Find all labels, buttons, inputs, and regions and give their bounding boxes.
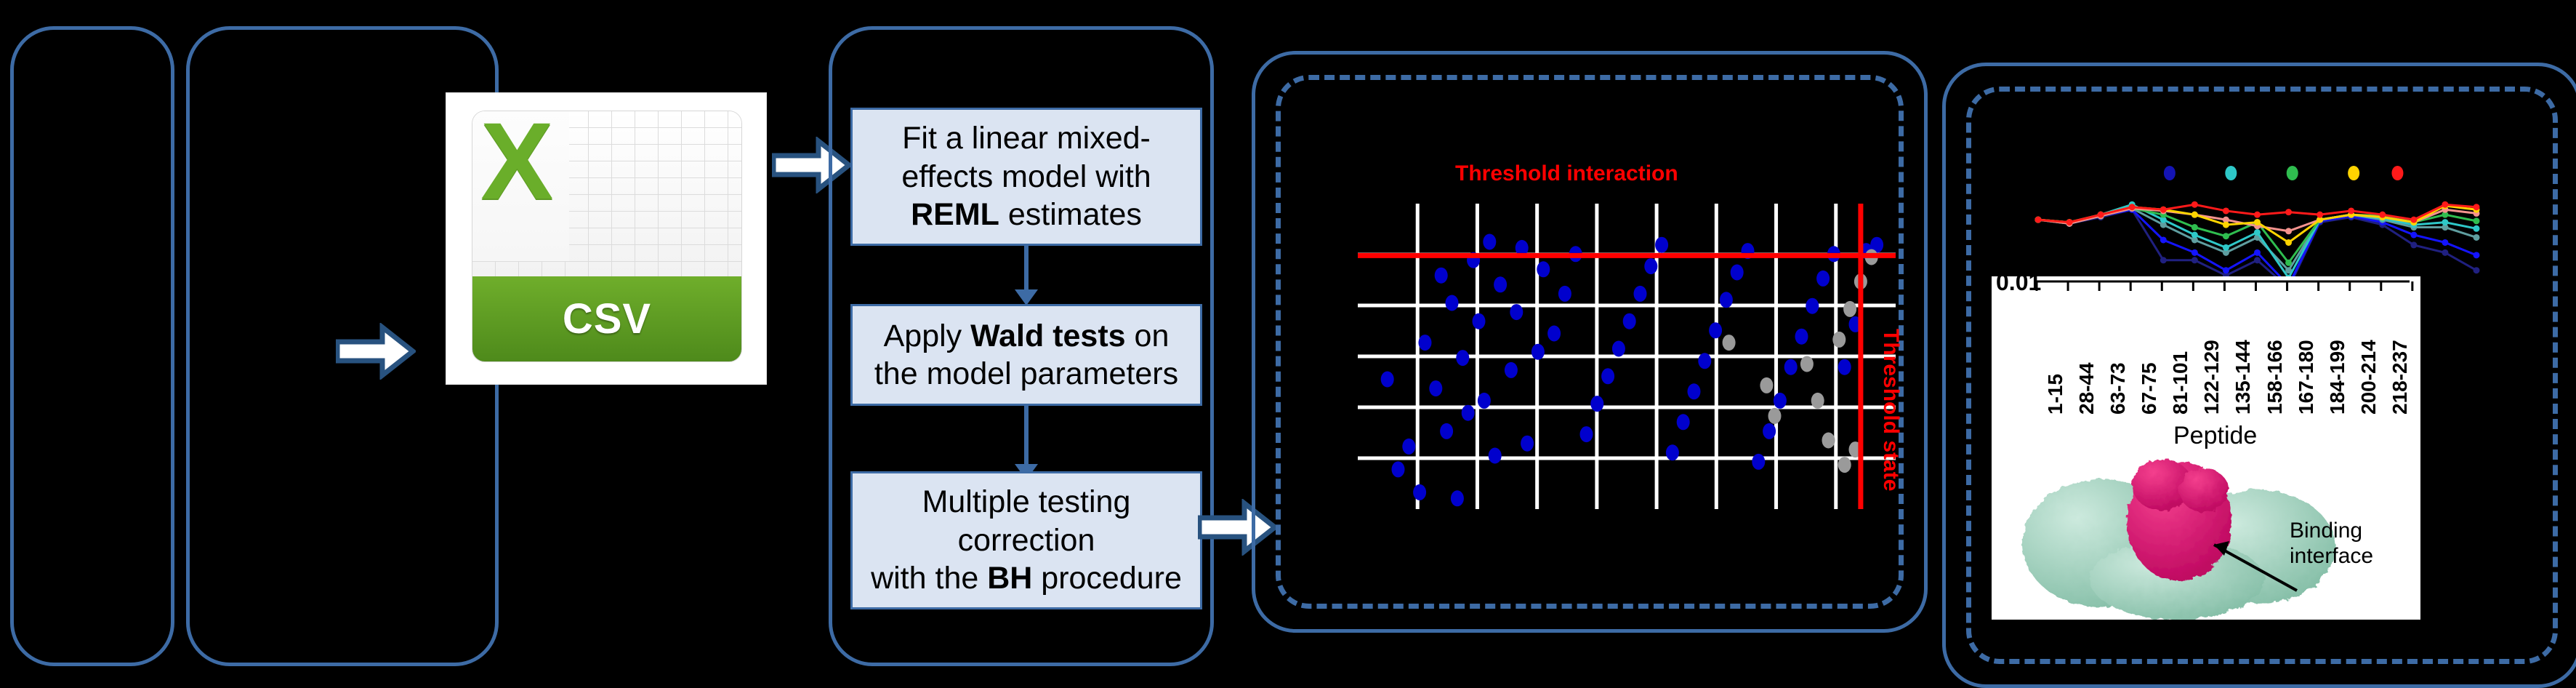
peptide-inset-card: 1-1528-4463-7367-7581-101122-129135-1441… [1992,276,2420,620]
reml-box-text: Fit a linear mixed-effects model withREM… [901,119,1151,233]
csv-format-label: CSV [563,295,651,343]
bh-box-text: Multiple testingcorrectionwith the BH pr… [871,483,1182,597]
excel-x-letter: X [480,111,553,215]
csv-icon-body: X CSV [472,111,742,362]
peptide-tick-label: 1-15 [2044,374,2067,415]
threshold-state-label: Threshold state [1878,329,1903,491]
peptide-tick-label: 241-257 [2420,340,2420,415]
peptide-axis-svg [1992,279,2420,298]
peptide-tick-label: 200-214 [2357,340,2380,415]
volcano-scatter-plot [1358,204,1896,509]
connector-arrowhead [1015,289,1038,305]
reml-box: Fit a linear mixed-effects model withREM… [850,108,1202,246]
peptide-tick-label: 158-166 [2263,340,2287,415]
threshold-interaction-label: Threshold interaction [1455,161,1678,186]
connector-wald-to-bh [1024,406,1029,465]
peptide-tick-label: 67-75 [2138,362,2161,415]
volcano-scatter-svg [1358,204,1896,509]
wald-box: Apply Wald tests onthe model parameters [850,304,1202,406]
peptide-tick-label: 28-44 [2075,362,2098,415]
peptide-tick-label: 135-144 [2231,340,2255,415]
input-panel [10,26,174,666]
peptide-tick-label: 184-199 [2326,340,2349,415]
csv-format-band: CSV [472,276,741,361]
wald-box-text: Apply Wald tests onthe model parameters [874,317,1178,393]
peptide-tick-label: 63-73 [2106,362,2130,415]
bh-box: Multiple testingcorrectionwith the BH pr… [850,471,1202,609]
connector-reml-to-wald [1024,246,1029,291]
peptide-tick-label: 122-129 [2200,340,2223,415]
figure-canvas: X CSV Fit a linear mixed-effects model w… [0,0,2576,687]
binding-interface-annotation: Binding interface [2290,518,2373,569]
peptide-tick-label: 167-180 [2295,340,2318,415]
csv-file-icon: X CSV [446,93,766,384]
peptide-tick-label: 218-237 [2388,340,2412,415]
peptide-y-axis-label: 0.01 [1996,276,2041,296]
peptide-tick-label: 81-101 [2169,351,2192,415]
